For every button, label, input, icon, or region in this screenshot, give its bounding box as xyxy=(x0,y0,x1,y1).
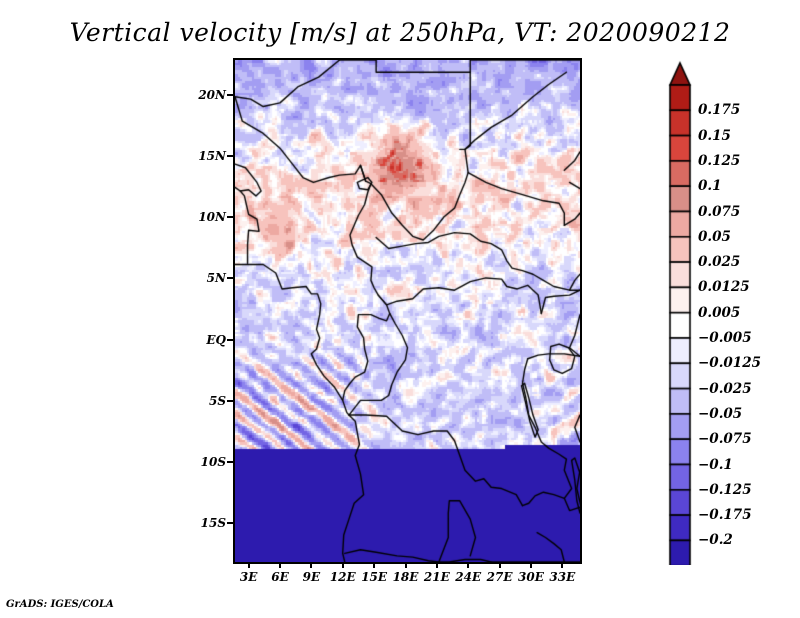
x-axis-tick-label: 6E xyxy=(271,570,289,584)
y-axis-tick-label: EQ xyxy=(178,333,226,347)
y-axis-tick-mark xyxy=(227,339,233,341)
x-axis-tick-mark xyxy=(467,562,469,568)
footer-credit: GrADS: IGES/COLA xyxy=(6,599,114,610)
colorbar-tick-label: 0.075 xyxy=(698,204,740,220)
colorbar-tick-label: 0.025 xyxy=(698,254,740,270)
y-axis-tick-label: 10N xyxy=(178,210,226,224)
colorbar-tick-label: −0.075 xyxy=(698,431,752,447)
x-axis-tick-mark xyxy=(373,562,375,568)
x-axis-tick-label: 9E xyxy=(303,570,321,584)
x-axis-tick-label: 21E xyxy=(424,570,450,584)
x-axis-tick-mark xyxy=(248,562,250,568)
x-axis-tick-label: 24E xyxy=(455,570,481,584)
colorbar-tick-label: −0.125 xyxy=(698,482,752,498)
grads-plot-root: Vertical velocity [m/s] at 250hPa, VT: 2… xyxy=(0,0,800,618)
colorbar-tick-label: 0.15 xyxy=(698,128,731,144)
y-axis-tick-mark xyxy=(227,400,233,402)
y-axis-tick-mark xyxy=(227,522,233,524)
x-axis-tick-mark xyxy=(530,562,532,568)
colorbar[interactable]: 0.1750.150.1250.10.0750.050.0250.01250.0… xyxy=(668,60,798,565)
x-axis-tick-label: 33E xyxy=(549,570,575,584)
colorbar-tick-label: 0.1 xyxy=(698,178,722,194)
colorbar-tick-label: −0.2 xyxy=(698,532,733,548)
x-axis-tick-label: 3E xyxy=(240,570,258,584)
y-axis-tick-label: 10S xyxy=(178,455,226,469)
x-axis-tick-label: 18E xyxy=(393,570,419,584)
y-axis-tick-label: 5S xyxy=(178,394,226,408)
colorbar-tick-label: −0.1 xyxy=(698,457,733,473)
colorbar-tick-label: −0.025 xyxy=(698,381,752,397)
x-axis-tick-mark xyxy=(342,562,344,568)
colorbar-tick-label: −0.05 xyxy=(698,406,742,422)
colorbar-tick-label: −0.0125 xyxy=(698,355,761,371)
x-axis-tick-mark xyxy=(436,562,438,568)
colorbar-tick-label: 0.175 xyxy=(698,102,740,118)
y-axis-tick-mark xyxy=(227,216,233,218)
map-plot-area[interactable] xyxy=(233,58,582,564)
colorbar-tick-label: −0.175 xyxy=(698,507,752,523)
colorbar-tick-label: 0.125 xyxy=(698,153,740,169)
x-axis-tick-label: 27E xyxy=(487,570,513,584)
colorbar-tick-label: −0.005 xyxy=(698,330,752,346)
colorbar-tick-label: 0.05 xyxy=(698,229,731,245)
x-axis-tick-mark xyxy=(310,562,312,568)
y-axis-tick-label: 15S xyxy=(178,516,226,530)
colorbar-tick-label: 0.005 xyxy=(698,305,740,321)
colorbar-tick-label: 0.0125 xyxy=(698,279,750,295)
x-axis-tick-mark xyxy=(499,562,501,568)
x-axis-tick-mark xyxy=(561,562,563,568)
x-axis-tick-label: 30E xyxy=(518,570,544,584)
page-title: Vertical velocity [m/s] at 250hPa, VT: 2… xyxy=(0,18,800,47)
y-axis-tick-mark xyxy=(227,277,233,279)
y-axis-tick-label: 20N xyxy=(178,88,226,102)
y-axis-tick-mark xyxy=(227,94,233,96)
x-axis-tick-label: 12E xyxy=(330,570,356,584)
y-axis-tick-label: 5N xyxy=(178,271,226,285)
y-axis-tick-mark xyxy=(227,461,233,463)
x-axis-tick-mark xyxy=(405,562,407,568)
y-axis-tick-mark xyxy=(227,155,233,157)
vertical-velocity-heatmap xyxy=(235,60,580,562)
x-axis-tick-mark xyxy=(279,562,281,568)
y-axis-tick-label: 15N xyxy=(178,149,226,163)
x-axis-tick-label: 15E xyxy=(361,570,387,584)
